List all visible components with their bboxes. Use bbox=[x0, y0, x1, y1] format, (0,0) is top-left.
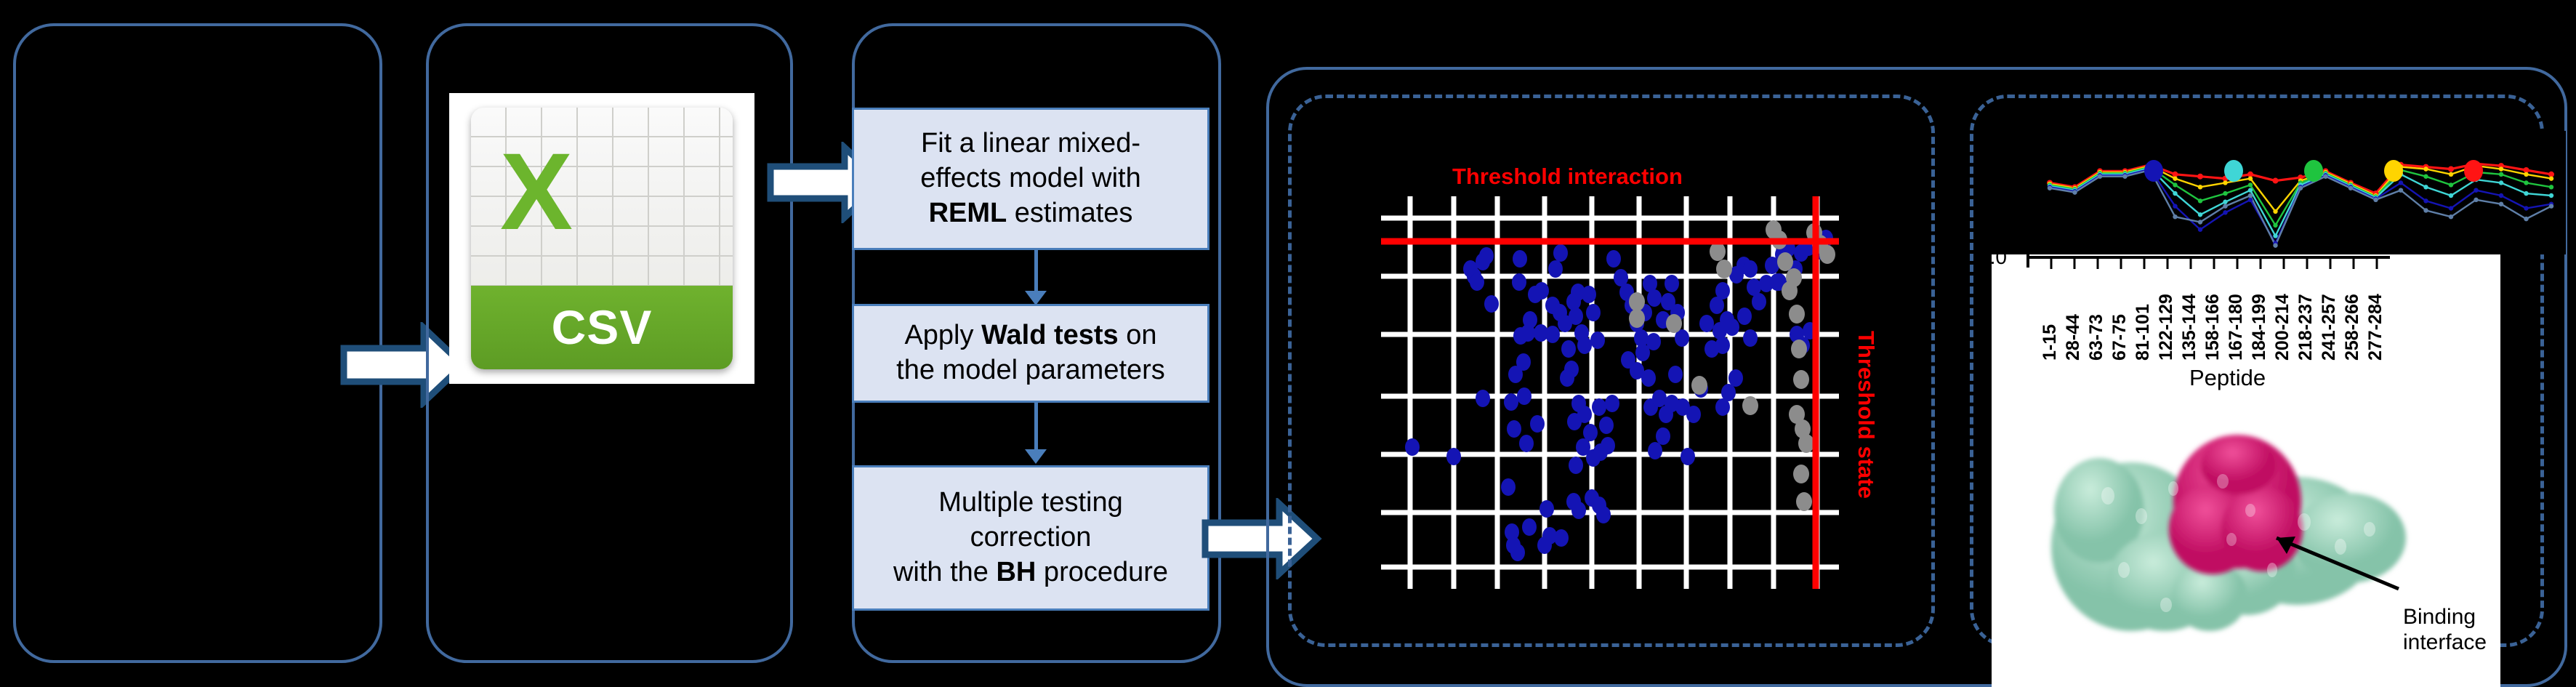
series-marker-t6-17 bbox=[2474, 198, 2478, 202]
series-marker-t3-20 bbox=[2549, 185, 2553, 189]
series-marker-t6-13 bbox=[2373, 198, 2378, 202]
connector-step2-step3 bbox=[1034, 403, 1038, 454]
peptide-tick-2: 63-73 bbox=[2086, 314, 2107, 361]
step1-reml-keyword: REML bbox=[929, 198, 1007, 228]
series-marker-t4-20 bbox=[2549, 193, 2553, 198]
series-marker-t4-8 bbox=[2248, 188, 2253, 193]
chart-legend bbox=[2137, 160, 2486, 182]
series-marker-t4-6 bbox=[2198, 212, 2202, 217]
series-marker-t6-18 bbox=[2499, 201, 2503, 206]
step2-line1-head: Apply bbox=[904, 320, 981, 350]
series-marker-t4-15 bbox=[2423, 185, 2428, 189]
csv-file-icon: X CSV bbox=[471, 108, 733, 369]
series-marker-t3-8 bbox=[2248, 182, 2253, 187]
series-marker-t6-0 bbox=[2048, 186, 2052, 190]
series-marker-t5-16 bbox=[2449, 206, 2453, 210]
series-marker-t3-9 bbox=[2273, 223, 2277, 228]
series-marker-t6-19 bbox=[2524, 217, 2528, 221]
threshold-interaction-label: Threshold interaction bbox=[1452, 164, 1683, 190]
series-marker-t3-5 bbox=[2173, 182, 2177, 187]
step3-line1: Multiple testing bbox=[938, 487, 1122, 518]
series-marker-t5-7 bbox=[2223, 210, 2227, 214]
series-marker-t3-7 bbox=[2223, 191, 2227, 196]
peptide-tick-9: 184-199 bbox=[2249, 294, 2270, 361]
csv-card: X CSV bbox=[449, 93, 754, 384]
step2-line2: the model parameters bbox=[896, 355, 1165, 385]
step3-bh-keyword: BH bbox=[996, 557, 1036, 587]
peptide-tick-1: 28-44 bbox=[2063, 314, 2084, 361]
flowchart-canvas: X CSV Fit a linear mixed- effects model … bbox=[0, 0, 2576, 687]
series-marker-t2-18 bbox=[2499, 166, 2503, 171]
series-marker-t6-8 bbox=[2248, 193, 2253, 198]
series-marker-t5-6 bbox=[2198, 228, 2202, 232]
peptide-tick-8: 167-180 bbox=[2226, 294, 2247, 361]
step1-line3-tail: estimates bbox=[1007, 198, 1132, 228]
step3-line3-head: with the bbox=[893, 557, 997, 587]
scatter-plot bbox=[1381, 196, 1839, 589]
step3-line2: correction bbox=[970, 522, 1092, 553]
threshold-state-label: Threshold state bbox=[1853, 331, 1879, 499]
step2-wald-keyword: Wald tests bbox=[981, 320, 1119, 350]
series-marker-t4-7 bbox=[2223, 200, 2227, 204]
peptide-line-chart-svg bbox=[2028, 131, 2566, 254]
series-marker-t6-5 bbox=[2173, 214, 2177, 219]
series-marker-t4-16 bbox=[2449, 193, 2453, 198]
series-marker-t4-9 bbox=[2273, 233, 2277, 238]
series-marker-t6-7 bbox=[2223, 204, 2227, 208]
series-marker-t2-19 bbox=[2524, 172, 2528, 177]
binding-interface-line1: Binding bbox=[2403, 605, 2487, 630]
peptide-tick-0: 1-15 bbox=[2040, 324, 2061, 361]
series-marker-t6-15 bbox=[2423, 208, 2428, 212]
peptide-tick-7: 158-166 bbox=[2202, 294, 2223, 361]
process-step-multiple-testing[interactable]: Multiple testing correction with the BH … bbox=[852, 465, 1209, 611]
series-marker-t5-5 bbox=[2173, 204, 2177, 208]
series-marker-t4-5 bbox=[2173, 191, 2177, 196]
peptide-tick-10: 200-214 bbox=[2272, 294, 2293, 361]
series-marker-t6-16 bbox=[2449, 214, 2453, 219]
series-marker-t3-6 bbox=[2198, 198, 2202, 203]
binding-interface-line2: interface bbox=[2403, 630, 2487, 656]
series-marker-t6-9 bbox=[2273, 243, 2277, 247]
series-marker-t6-10 bbox=[2298, 186, 2303, 190]
series-marker-t6-14 bbox=[2399, 188, 2403, 193]
series-marker-t2-9 bbox=[2273, 209, 2277, 214]
series-marker-t2-6 bbox=[2198, 185, 2202, 189]
series-marker-t5-18 bbox=[2499, 193, 2503, 198]
csv-format-label: CSV bbox=[552, 300, 653, 355]
binding-interface-annotation: Binding interface bbox=[2403, 605, 2487, 655]
process-step-wald-tests[interactable]: Apply Wald tests on the model parameters bbox=[852, 304, 1209, 403]
series-marker-t3-19 bbox=[2524, 180, 2528, 185]
peptide-tick-11: 218-237 bbox=[2295, 294, 2317, 361]
series-marker-t6-12 bbox=[2348, 186, 2353, 190]
peptide-line-chart bbox=[2028, 131, 2566, 254]
series-marker-t6-6 bbox=[2198, 220, 2202, 224]
series-marker-t6-20 bbox=[2549, 204, 2553, 208]
connector-step1-step2-arrowhead bbox=[1025, 291, 1047, 305]
legend-dot-1 bbox=[2224, 160, 2243, 182]
peptide-tick-12: 241-257 bbox=[2319, 294, 2340, 361]
series-marker-t2-20 bbox=[2549, 176, 2553, 180]
figure-white-panel: 0.0 1-1528-4463- bbox=[1992, 254, 2500, 687]
series-marker-t4-18 bbox=[2499, 180, 2503, 185]
series-marker-t3-18 bbox=[2499, 172, 2503, 177]
process-step-fit-model[interactable]: Fit a linear mixed- effects model with R… bbox=[852, 108, 1209, 250]
step1-line1: Fit a linear mixed- bbox=[921, 128, 1140, 158]
legend-dot-0 bbox=[2144, 160, 2163, 182]
series-marker-t5-15 bbox=[2423, 198, 2428, 203]
panel-1-outline bbox=[13, 23, 382, 663]
legend-dot-2 bbox=[2304, 160, 2323, 182]
peptide-tick-3: 67-75 bbox=[2109, 314, 2130, 361]
step2-line1-tail: on bbox=[1119, 320, 1157, 350]
series-marker-t5-8 bbox=[2248, 198, 2253, 202]
peptide-tick-14: 277-284 bbox=[2365, 294, 2386, 361]
step3-line3-tail: procedure bbox=[1036, 557, 1168, 587]
step1-line2: effects model with bbox=[920, 163, 1140, 193]
series-marker-t4-19 bbox=[2524, 191, 2528, 196]
peptide-tick-5: 122-129 bbox=[2156, 294, 2177, 361]
csv-format-band: CSV bbox=[471, 286, 733, 369]
series-marker-t5-19 bbox=[2524, 206, 2528, 210]
peptide-tick-4: 81-101 bbox=[2133, 304, 2154, 361]
series-marker-t5-17 bbox=[2474, 188, 2478, 193]
series-marker-t6-2 bbox=[2098, 174, 2102, 179]
series-marker-t3-16 bbox=[2449, 182, 2453, 187]
peptide-tick-13: 258-266 bbox=[2342, 294, 2363, 361]
legend-dot-3 bbox=[2384, 160, 2403, 182]
peptide-tick-6: 135-144 bbox=[2179, 294, 2200, 361]
connector-step2-step3-arrowhead bbox=[1025, 449, 1047, 464]
series-marker-t6-1 bbox=[2072, 190, 2077, 194]
series-marker-t6-3 bbox=[2122, 174, 2127, 179]
excel-x-letter: X bbox=[476, 118, 597, 265]
legend-dot-4 bbox=[2464, 160, 2483, 182]
connector-step1-step2 bbox=[1034, 250, 1038, 295]
